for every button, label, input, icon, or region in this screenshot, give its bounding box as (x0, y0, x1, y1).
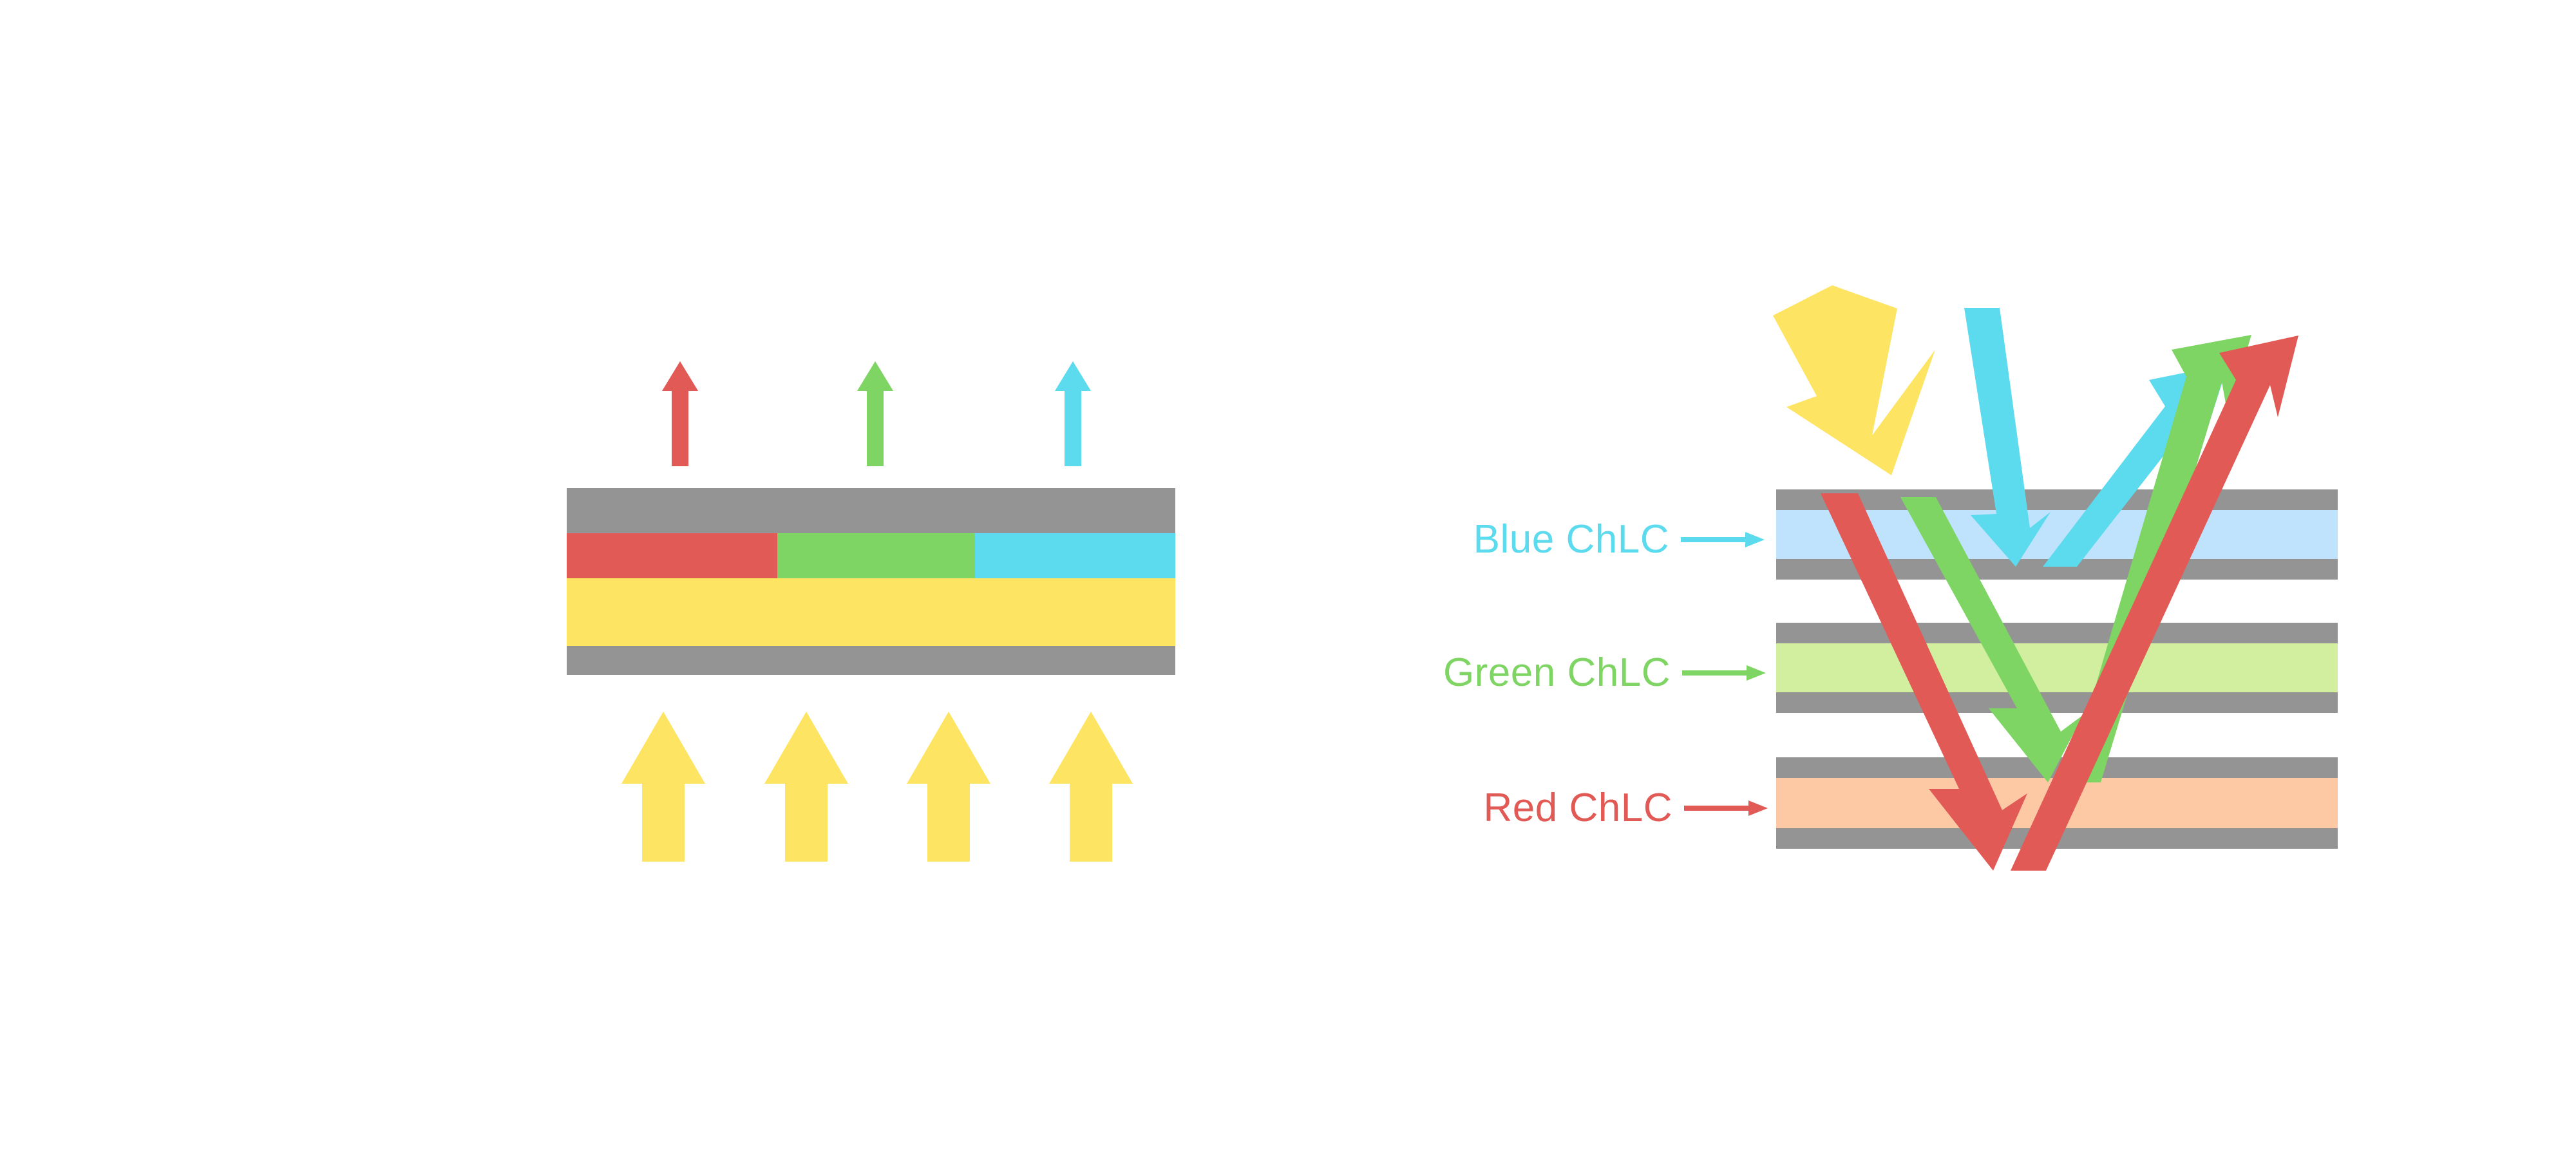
red-chlc-label: Red ChLC (1484, 786, 1672, 830)
green-legend-arrow-icon (1682, 665, 1766, 681)
green-cell-top-electrode (1776, 623, 2338, 643)
right-panel-group: Blue ChLC Green ChLC Red ChLC (0, 0, 2576, 1154)
red-legend-arrow-icon (1684, 800, 1768, 816)
diagram-canvas: Blue ChLC Green ChLC Red ChLC (0, 0, 2576, 1154)
legend-pointer-arrows (1681, 532, 1768, 816)
blue-chlc-label: Blue ChLC (1473, 517, 1669, 562)
blue-legend-arrow-icon (1681, 532, 1765, 547)
green-cell-lc-layer (1776, 643, 2338, 692)
green-chlc-label: Green ChLC (1443, 650, 1671, 695)
green-chlc-cell (1776, 623, 2338, 713)
green-cell-bottom-electrode (1776, 692, 2338, 713)
ambient-light-arrow (1773, 285, 1935, 475)
